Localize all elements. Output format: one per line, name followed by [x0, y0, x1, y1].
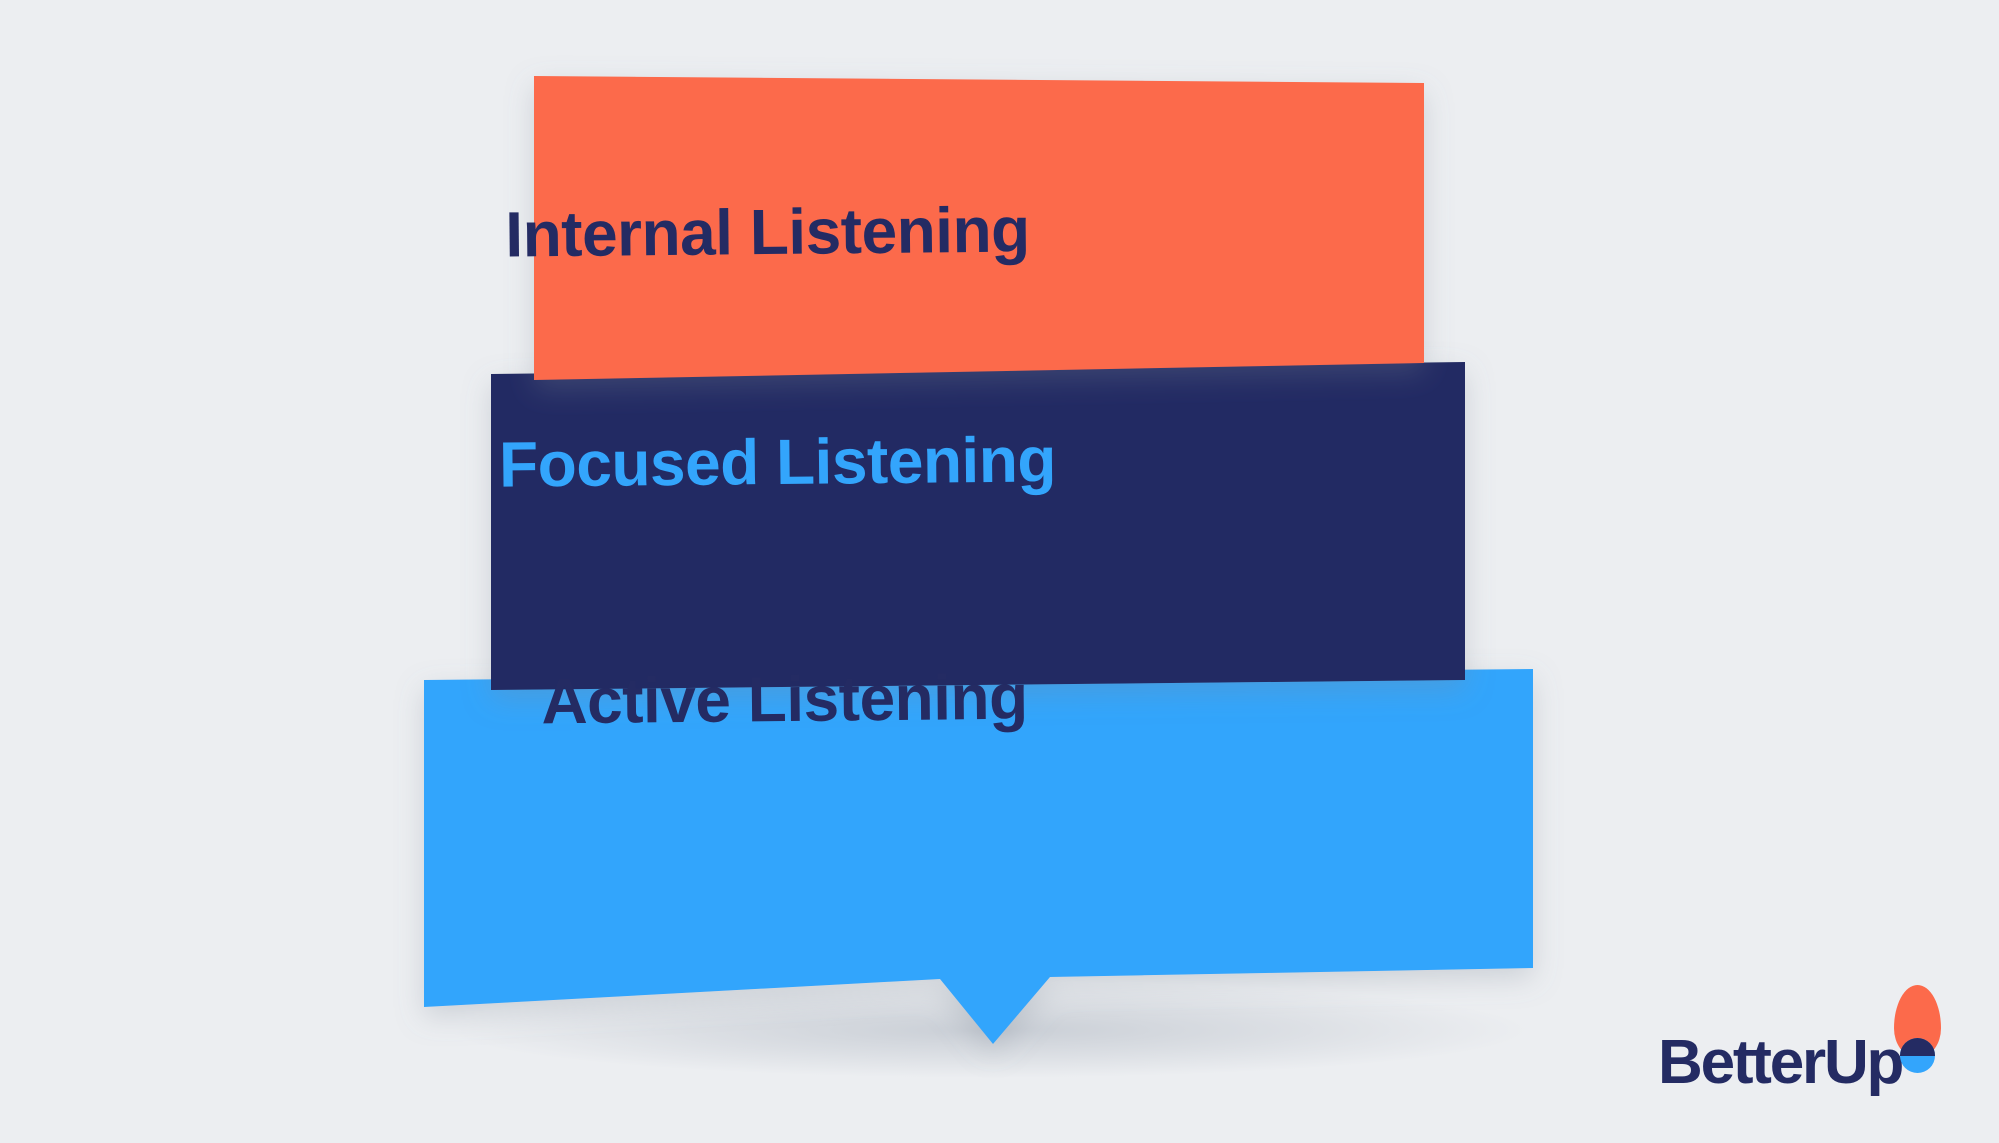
level-shape-focused	[491, 362, 1465, 690]
betterup-logo-mark-icon	[1887, 985, 1947, 1095]
betterup-logo: BetterUp	[1658, 985, 1958, 1105]
level-panel-focused	[491, 362, 1465, 690]
listening-levels-diagram	[0, 0, 1999, 1143]
slide-canvas: Internal Listening Focused Listening Act…	[0, 0, 1999, 1143]
betterup-wordmark: BetterUp	[1658, 1027, 1902, 1098]
